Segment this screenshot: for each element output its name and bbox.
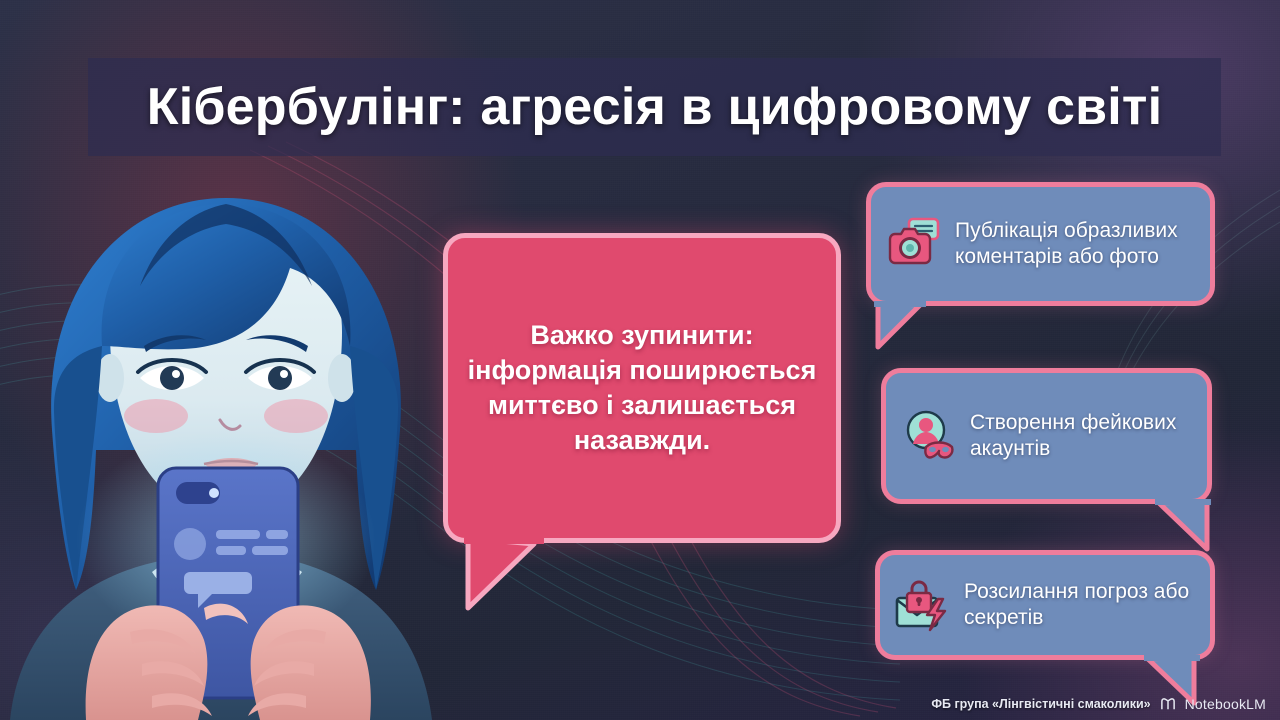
sad-girl-illustration bbox=[0, 120, 460, 720]
form-bubble-fake-tail bbox=[1135, 499, 1213, 555]
form-bubble-post[interactable]: Публікація образливих коментарів або фот… bbox=[866, 182, 1215, 306]
footer-brand-label: NotebookLM bbox=[1185, 696, 1266, 712]
form-bubble-threat-label: Розсилання погроз або секретів bbox=[964, 579, 1194, 632]
notebooklm-logo-icon bbox=[1160, 697, 1176, 711]
main-message-bubble-tail bbox=[460, 538, 580, 614]
form-bubble-threat[interactable]: Розсилання погроз або секретів bbox=[875, 550, 1215, 660]
page-title: Кібербулінг: агресія в цифровому світі bbox=[88, 58, 1221, 156]
form-bubble-fake-label: Створення фейкових акаунтів bbox=[970, 410, 1191, 463]
fake-icons-group bbox=[900, 408, 956, 464]
form-bubble-fake[interactable]: Створення фейкових акаунтів bbox=[881, 368, 1212, 504]
slide-canvas: Важко зупинити: інформація поширюється м… bbox=[0, 0, 1280, 720]
form-bubble-post-label: Публікація образливих коментарів або фот… bbox=[955, 218, 1194, 271]
main-message-text: Важко зупинити: інформація поширюється м… bbox=[448, 318, 836, 458]
footer-source-label: ФБ група «Лінгвістичні смаколики» bbox=[931, 697, 1150, 711]
masquerade-mask-icon bbox=[925, 443, 952, 458]
camera-icon bbox=[890, 229, 930, 263]
footer: ФБ група «Лінгвістичні смаколики» Notebo… bbox=[931, 696, 1266, 712]
threat-icons-group bbox=[894, 577, 950, 633]
main-message-bubble: Важко зупинити: інформація поширюється м… bbox=[443, 233, 841, 543]
lock-icon bbox=[907, 582, 931, 612]
form-bubble-post-tail bbox=[874, 301, 944, 353]
post-icons-group bbox=[885, 216, 941, 272]
